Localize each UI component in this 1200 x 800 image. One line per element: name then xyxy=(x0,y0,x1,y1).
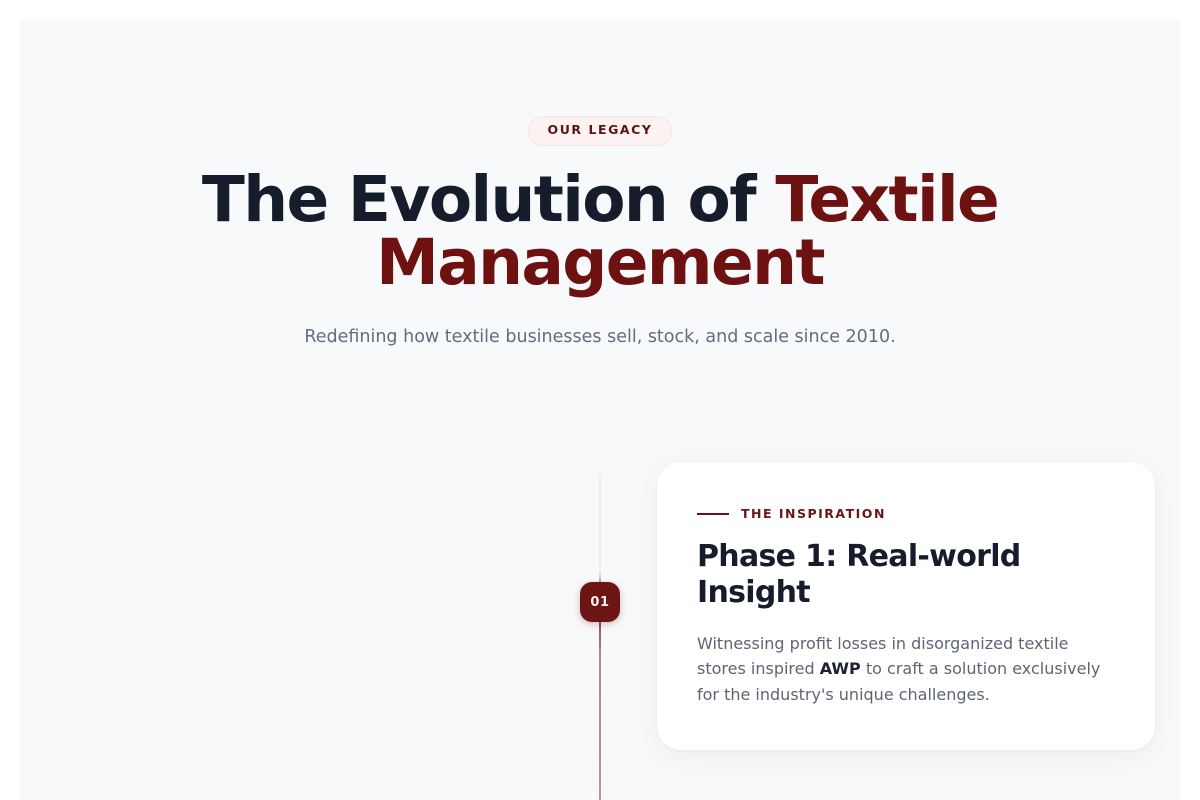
timeline-marker-label: 01 xyxy=(590,595,609,610)
card-title: Phase 1: Real-world Insight xyxy=(697,539,1037,611)
card-body-brand: AWP xyxy=(820,659,861,678)
legacy-section: OUR LEGACY The Evolution of Textile Mana… xyxy=(20,20,1180,800)
card-body: Witnessing profit losses in disorganized… xyxy=(697,631,1115,709)
timeline-axis-line xyxy=(599,475,601,800)
dash-rule-icon xyxy=(697,513,729,515)
section-header: OUR LEGACY The Evolution of Textile Mana… xyxy=(20,20,1180,350)
eyebrow-badge: OUR LEGACY xyxy=(528,116,673,146)
page-subtitle: Redefining how textile businesses sell, … xyxy=(150,324,1050,350)
card-eyebrow-label: THE INSPIRATION xyxy=(741,508,886,521)
card-eyebrow: THE INSPIRATION xyxy=(697,508,1115,521)
page-title: The Evolution of Textile Management xyxy=(185,168,1015,294)
page-root: OUR LEGACY The Evolution of Textile Mana… xyxy=(0,0,1200,800)
timeline-marker-01[interactable]: 01 xyxy=(580,582,620,622)
phase-card-01[interactable]: THE INSPIRATION Phase 1: Real-world Insi… xyxy=(657,462,1155,750)
